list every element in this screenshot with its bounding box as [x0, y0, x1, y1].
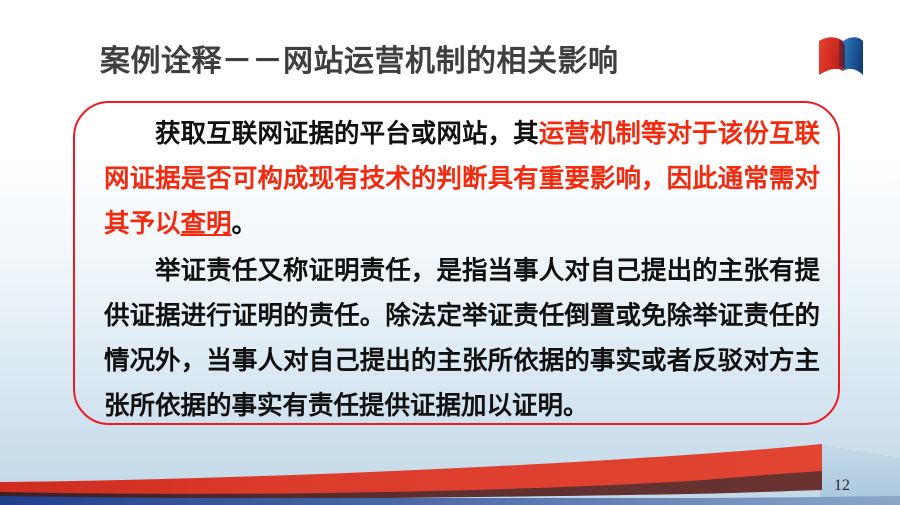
company-logo-icon — [815, 33, 867, 81]
paragraph-1: 获取互联网证据的平台或网站，其运营机制等对于该份互联网证据是否可构成现有技术的判… — [104, 112, 820, 247]
paragraph-2: 举证责任又称证明责任，是指当事人对自己提出的主张有提供证据进行证明的责任。除法定… — [104, 249, 820, 429]
paragraph-1-red-underlined-text: 查明 — [181, 210, 232, 238]
paragraph-1-black-text: 获取互联网证据的平台或网站，其 — [155, 120, 539, 148]
page-number: 12 — [834, 477, 850, 495]
paragraph-1-period: 。 — [232, 210, 258, 238]
content-text-area: 获取互联网证据的平台或网站，其运营机制等对于该份互联网证据是否可构成现有技术的判… — [104, 112, 820, 422]
bottom-decoration — [0, 430, 900, 505]
slide-title: 案例诠释－－网站运营机制的相关影响 — [100, 36, 619, 80]
presentation-slide: 案例诠释－－网站运营机制的相关影响 — [0, 0, 900, 505]
